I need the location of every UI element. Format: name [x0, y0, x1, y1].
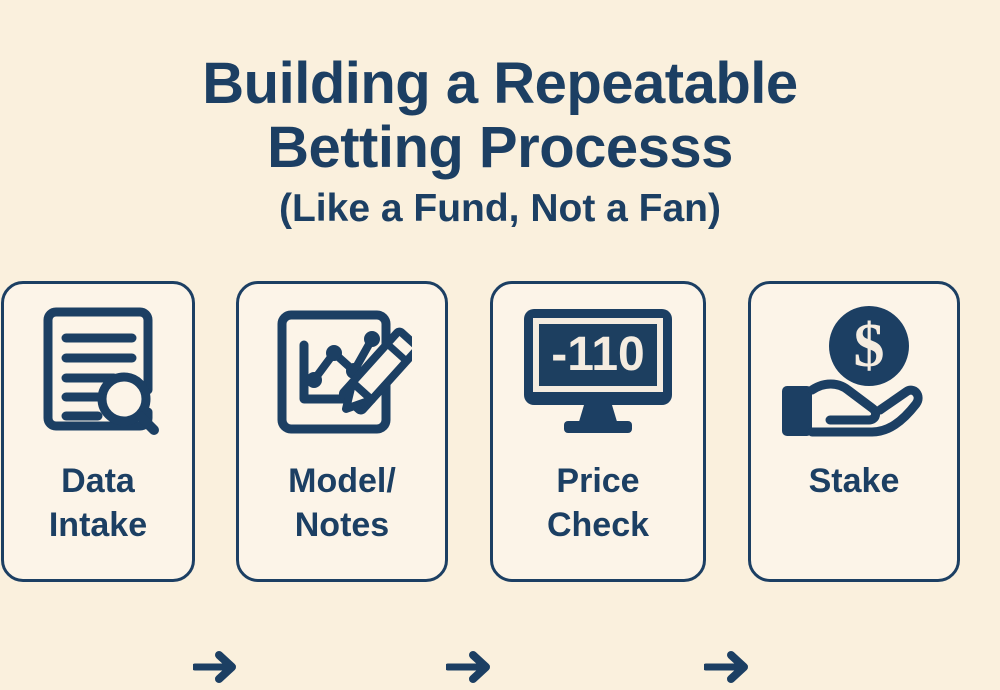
monitor-odds-icon: -110	[520, 307, 676, 437]
flow-step-label: Model/ Notes	[288, 459, 396, 547]
document-search-icon	[36, 306, 160, 438]
flow-step-label: Price Check	[547, 459, 649, 547]
icon-container: -110	[493, 284, 703, 459]
flow-connector-2	[446, 649, 493, 685]
process-flow: Data Intake	[0, 281, 1000, 583]
flow-step-label: Data Intake	[49, 459, 147, 547]
page-subtitle: (Like a Fund, Not a Fan)	[0, 186, 1000, 232]
page-title: Building a Repeatable Betting Processs	[100, 52, 900, 180]
dollar-symbol: $	[854, 312, 885, 380]
infographic-canvas: Building a Repeatable Betting Processs (…	[0, 0, 1000, 667]
icon-container	[239, 284, 445, 459]
flow-connector-3	[704, 649, 751, 685]
hand-coin-icon: $	[776, 304, 932, 440]
arrow-right-icon	[446, 649, 493, 685]
flow-step-price-check: -110 Price Check	[490, 281, 706, 582]
flow-connector-1	[193, 649, 239, 685]
header: Building a Repeatable Betting Processs (…	[0, 52, 1000, 232]
flow-step-label: Stake	[809, 459, 900, 503]
odds-value: -110	[551, 328, 644, 381]
arrow-right-icon	[704, 649, 751, 685]
flow-step-stake: $ Stake	[748, 281, 960, 582]
icon-container: $	[751, 284, 957, 459]
arrow-right-icon	[193, 649, 239, 685]
flow-step-model-notes: Model/ Notes	[236, 281, 448, 582]
icon-container	[4, 284, 192, 459]
flow-step-data-intake: Data Intake	[1, 281, 195, 582]
chart-pencil-icon	[272, 305, 412, 439]
